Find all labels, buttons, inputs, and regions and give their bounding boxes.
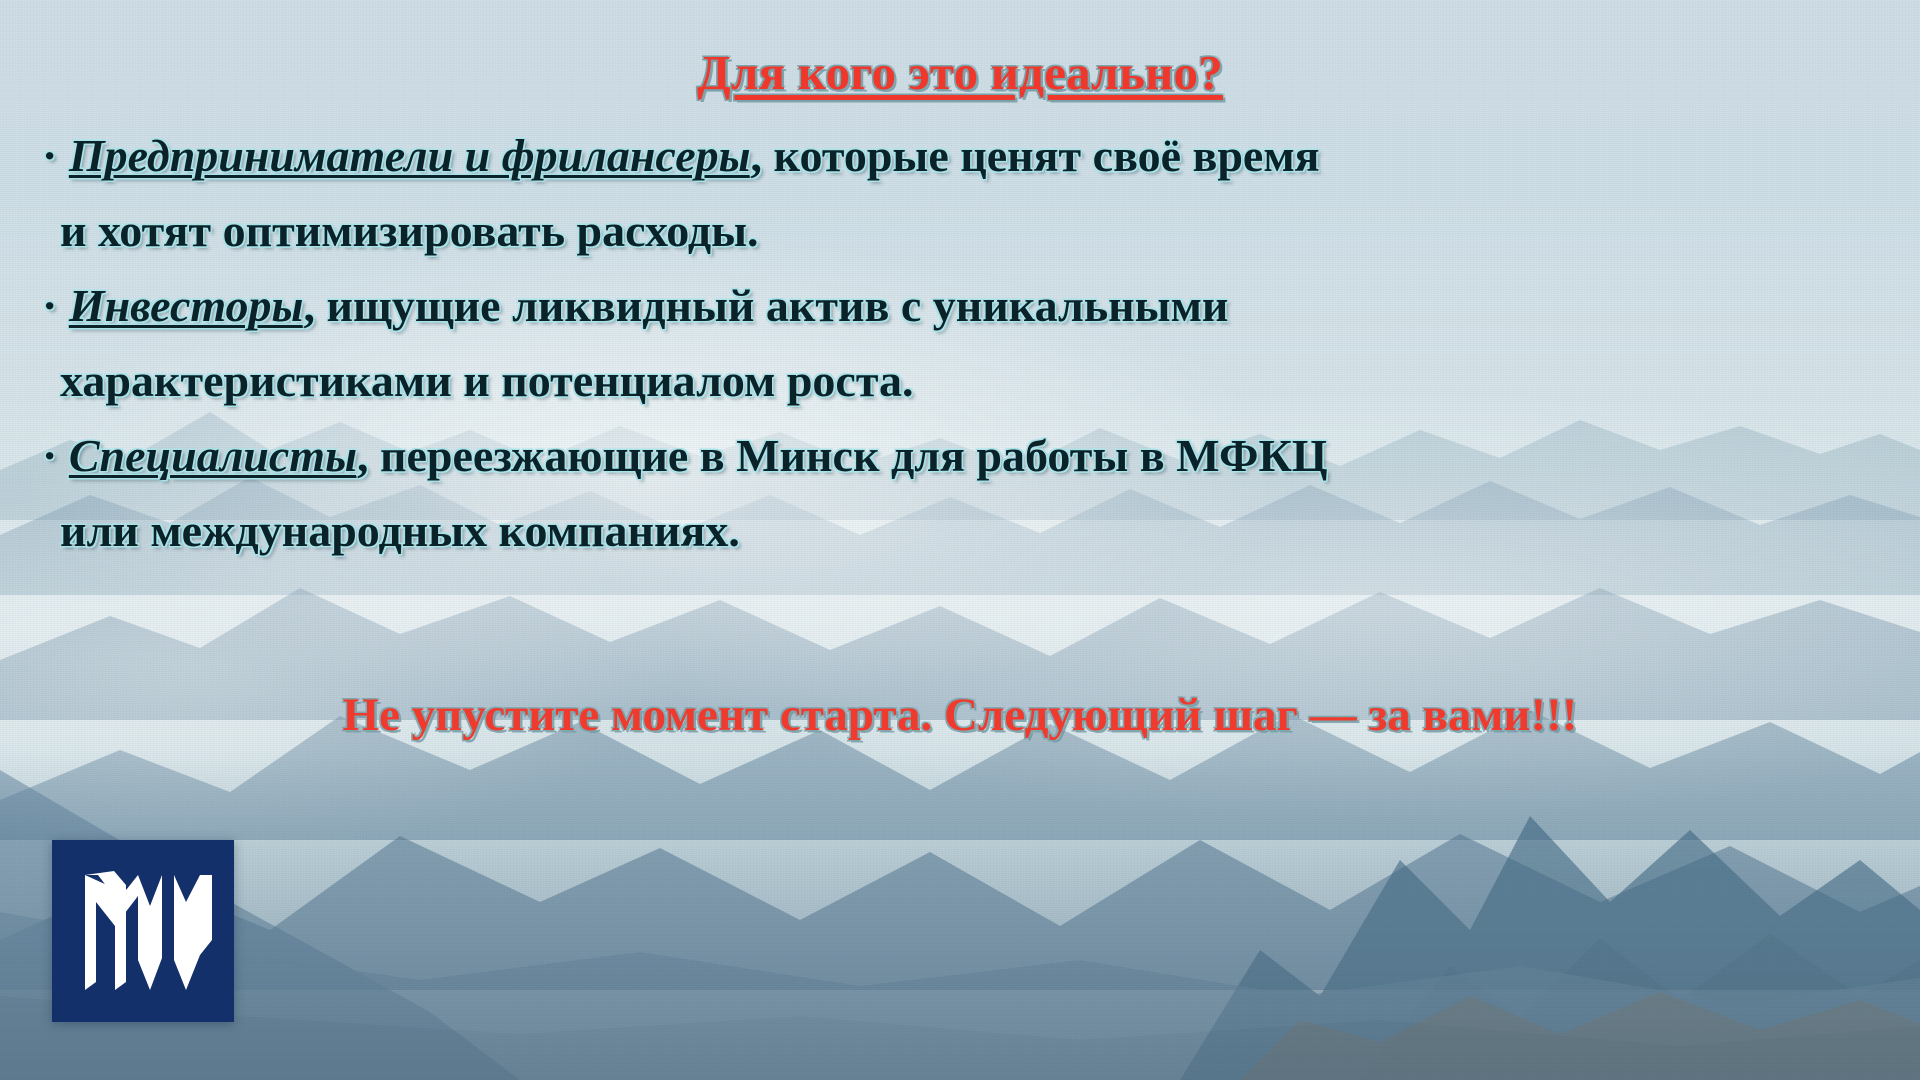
bullet-rest-3: , переезжающие в Минск для работы в МФКЦ (357, 430, 1328, 481)
mw-monogram-icon (52, 840, 234, 1022)
bullet-list: · Предприниматели и фрилансеры, которые … (42, 118, 1884, 568)
list-item: · Предприниматели и фрилансеры, которые … (42, 118, 1884, 193)
page-title: Для кого это идеально? (0, 44, 1920, 101)
list-item: · Инвесторы, ищущие ликвидный актив с ун… (42, 268, 1884, 343)
list-item-continuation: и хотят оптимизировать расходы. (42, 193, 1884, 268)
slide-canvas: Для кого это идеально? · Предприниматели… (0, 0, 1920, 1080)
bullet-emphasis-2: Инвесторы (69, 280, 304, 331)
brand-logo (52, 840, 234, 1022)
bullet-rest-2: , ищущие ликвидный актив с уникальными (303, 280, 1228, 331)
bullet-marker-1: · (42, 130, 57, 181)
list-item-continuation: характеристиками и потенциалом роста. (42, 343, 1884, 418)
list-item-continuation: или международных компаниях. (42, 493, 1884, 568)
list-item: · Специалисты, переезжающие в Минск для … (42, 418, 1884, 493)
slide-content: Для кого это идеально? · Предприниматели… (0, 0, 1920, 1080)
bullet-emphasis-1: Предприниматели и фрилансеры (69, 130, 751, 181)
bullet-continuation-2: характеристиками и потенциалом роста. (60, 355, 914, 406)
call-to-action-text: Не упустите момент старта. Следующий шаг… (0, 688, 1920, 742)
bullet-continuation-3: или международных компаниях. (60, 505, 740, 556)
bullet-rest-1: , которые ценят своё время (751, 130, 1320, 181)
bullet-marker-3: · (42, 430, 57, 481)
bullet-marker-2: · (42, 280, 57, 331)
bullet-continuation-1: и хотят оптимизировать расходы. (60, 205, 759, 256)
bullet-emphasis-3: Специалисты (69, 430, 357, 481)
